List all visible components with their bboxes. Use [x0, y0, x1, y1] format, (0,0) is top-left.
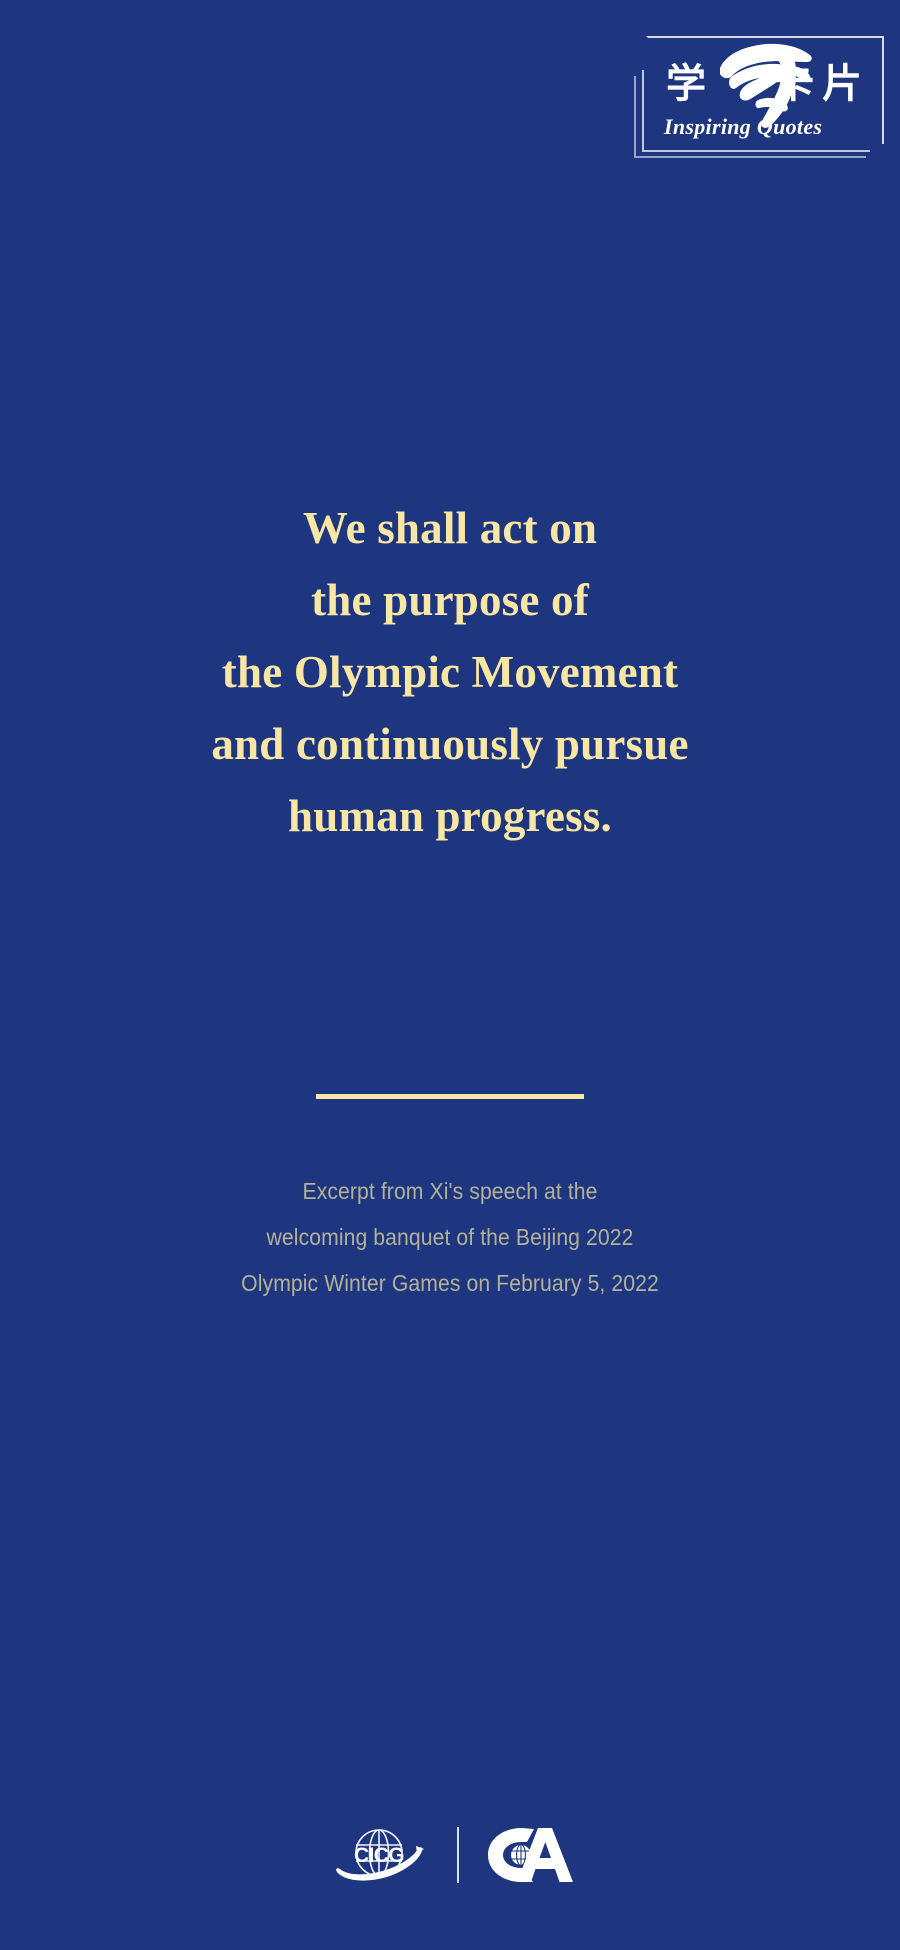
quote-divider	[316, 1094, 584, 1099]
quote-line: the purpose of	[0, 564, 900, 636]
quote-text: We shall act on the purpose of the Olymp…	[0, 492, 900, 852]
attribution-line: Olympic Winter Games on February 5, 2022	[36, 1260, 864, 1306]
svg-text:CICG: CICG	[354, 1844, 404, 1867]
brand-logo: 学 卡 片 Inspiring Quotes	[638, 18, 886, 153]
quote-line: the Olympic Movement	[0, 636, 900, 708]
brand-char-xue: 学	[666, 62, 706, 106]
quote-line: human progress.	[0, 780, 900, 852]
brand-logo-content: 学 卡 片 Inspiring Quotes	[648, 28, 874, 144]
brand-english-title: Inspiring Quotes	[664, 114, 874, 140]
quote-line: We shall act on	[0, 492, 900, 564]
cicg-logo-icon: CICG	[323, 1822, 435, 1888]
brand-char-pian: 片	[822, 62, 862, 106]
brand-chinese-title: 学 卡 片	[666, 58, 876, 114]
ca-logo-icon	[481, 1826, 577, 1884]
footer-logo-separator	[457, 1827, 459, 1883]
quote-attribution: Excerpt from Xi's speech at the welcomin…	[0, 1168, 900, 1306]
quote-line: and continuously pursue	[0, 708, 900, 780]
attribution-line: Excerpt from Xi's speech at the	[36, 1168, 864, 1214]
footer-logos: CICG	[0, 1822, 900, 1888]
attribution-line: welcoming banquet of the Beijing 2022	[36, 1214, 864, 1260]
quote-card: 学 卡 片 Inspiring Quotes We shall act o	[0, 0, 900, 1950]
